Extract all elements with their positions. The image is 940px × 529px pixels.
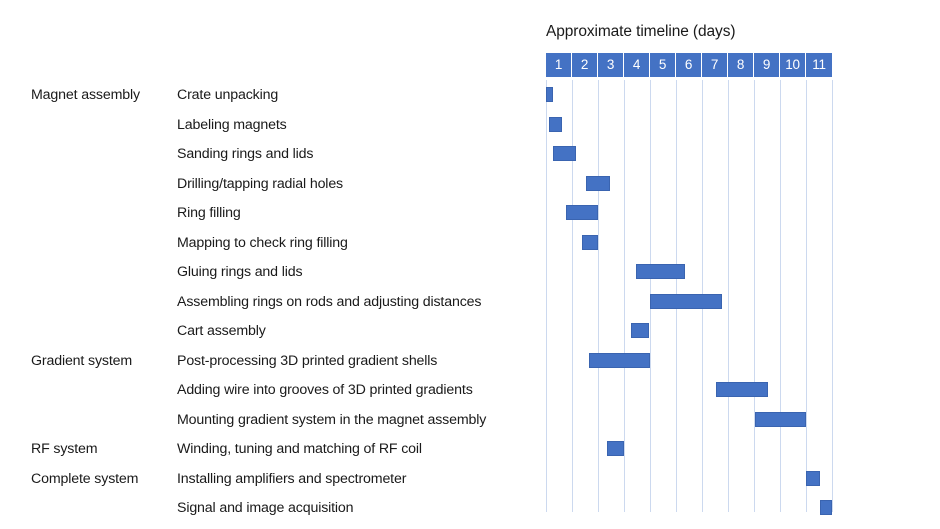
task-label: Adding wire into grooves of 3D printed g… xyxy=(177,380,542,400)
task-label: Mapping to check ring filling xyxy=(177,233,542,253)
timeline-day-3: 3 xyxy=(598,53,624,77)
gantt-row: Signal and image acquisition xyxy=(0,498,940,528)
category-label: RF system xyxy=(31,439,177,459)
gantt-bar[interactable] xyxy=(820,500,832,515)
gantt-row: Magnet assemblyCrate unpacking xyxy=(0,85,940,115)
gantt-bar[interactable] xyxy=(586,176,609,191)
category-label: Gradient system xyxy=(31,351,177,371)
gantt-bar[interactable] xyxy=(553,146,576,161)
task-label: Post-processing 3D printed gradient shel… xyxy=(177,351,542,371)
gantt-bar[interactable] xyxy=(549,117,562,132)
timeline-day-6: 6 xyxy=(676,53,702,77)
gantt-chart: Approximate timeline (days) 123456789101… xyxy=(0,0,940,529)
gantt-row: Mounting gradient system in the magnet a… xyxy=(0,410,940,440)
category-label: Complete system xyxy=(31,469,177,489)
timeline-day-2: 2 xyxy=(572,53,598,77)
timeline-day-8: 8 xyxy=(728,53,754,77)
gantt-bar[interactable] xyxy=(546,87,553,102)
category-label: Magnet assembly xyxy=(31,85,177,105)
gantt-row: Adding wire into grooves of 3D printed g… xyxy=(0,380,940,410)
task-label: Gluing rings and lids xyxy=(177,262,542,282)
gantt-bar[interactable] xyxy=(631,323,649,338)
gantt-bar[interactable] xyxy=(607,441,624,456)
gantt-bar[interactable] xyxy=(806,471,820,486)
gantt-row: Mapping to check ring filling xyxy=(0,233,940,263)
task-label: Cart assembly xyxy=(177,321,542,341)
task-label: Mounting gradient system in the magnet a… xyxy=(177,410,542,430)
timeline-day-7: 7 xyxy=(702,53,728,77)
gantt-bar[interactable] xyxy=(650,294,722,309)
task-label: Labeling magnets xyxy=(177,115,542,135)
task-label: Winding, tuning and matching of RF coil xyxy=(177,439,542,459)
gantt-row: RF systemWinding, tuning and matching of… xyxy=(0,439,940,469)
timeline-day-11: 11 xyxy=(806,53,832,77)
gantt-bar[interactable] xyxy=(566,205,599,220)
task-label: Drilling/tapping radial holes xyxy=(177,174,542,194)
task-label: Ring filling xyxy=(177,203,542,223)
task-label: Assembling rings on rods and adjusting d… xyxy=(177,292,542,312)
timeline-day-5: 5 xyxy=(650,53,676,77)
gantt-row: Assembling rings on rods and adjusting d… xyxy=(0,292,940,322)
gantt-bar[interactable] xyxy=(636,264,685,279)
gantt-row: Sanding rings and lids xyxy=(0,144,940,174)
task-label: Signal and image acquisition xyxy=(177,498,542,518)
gantt-row: Ring filling xyxy=(0,203,940,233)
gantt-row: Gluing rings and lids xyxy=(0,262,940,292)
task-label: Crate unpacking xyxy=(177,85,542,105)
gantt-bar[interactable] xyxy=(716,382,768,397)
timeline-day-10: 10 xyxy=(780,53,806,77)
gantt-row: Labeling magnets xyxy=(0,115,940,145)
timeline-day-9: 9 xyxy=(754,53,780,77)
task-label: Installing amplifiers and spectrometer xyxy=(177,469,542,489)
chart-title: Approximate timeline (days) xyxy=(546,22,886,42)
gantt-row: Complete systemInstalling amplifiers and… xyxy=(0,469,940,499)
gantt-row: Drilling/tapping radial holes xyxy=(0,174,940,204)
gantt-bar[interactable] xyxy=(582,235,598,250)
gantt-bar[interactable] xyxy=(589,353,650,368)
gantt-row: Gradient systemPost-processing 3D printe… xyxy=(0,351,940,381)
timeline-day-4: 4 xyxy=(624,53,650,77)
task-label: Sanding rings and lids xyxy=(177,144,542,164)
timeline-day-1: 1 xyxy=(546,53,572,77)
gantt-bar[interactable] xyxy=(755,412,806,427)
timeline-header-row: 1234567891011 xyxy=(546,53,832,77)
gantt-row: Cart assembly xyxy=(0,321,940,351)
